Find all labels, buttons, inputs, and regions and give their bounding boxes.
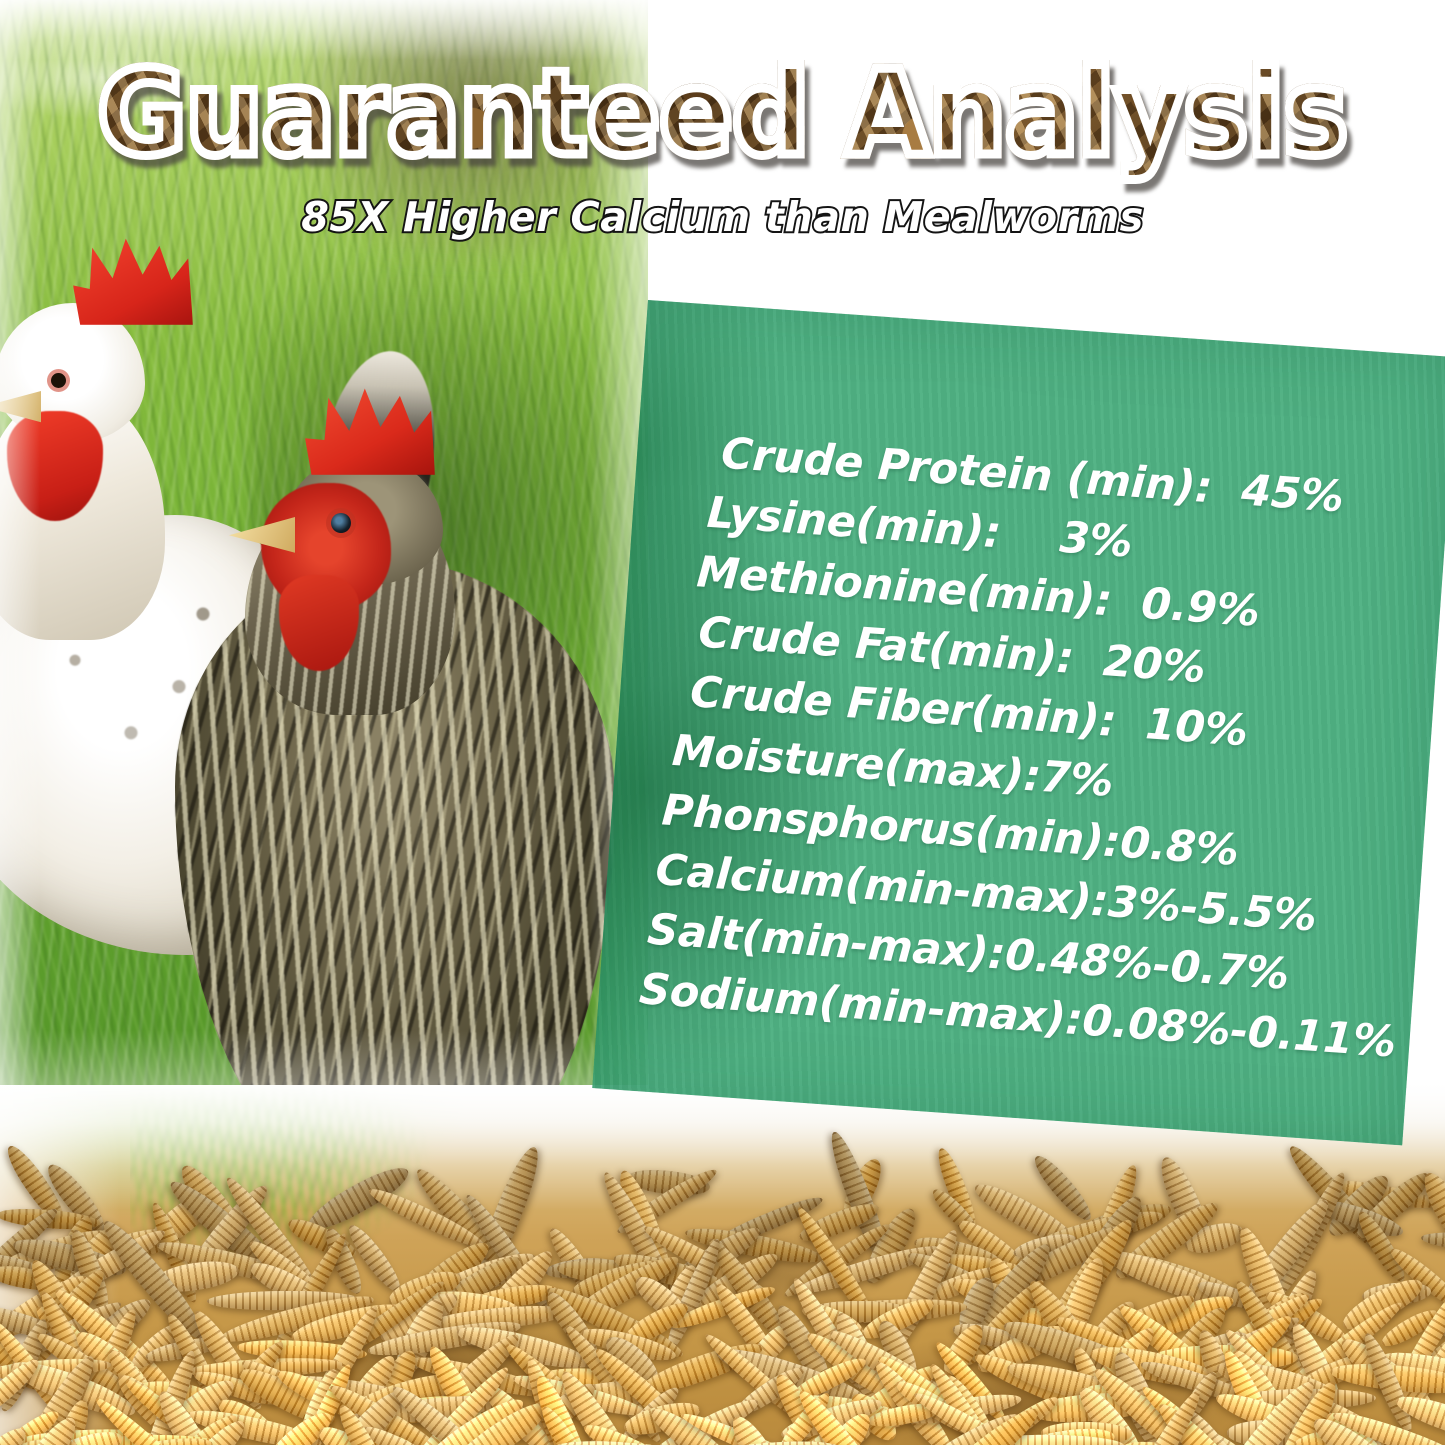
dried-black-soldier-fly-larvae-photo [0, 1085, 1445, 1445]
hen-eye [51, 373, 66, 388]
hen-eye [331, 513, 351, 533]
hen-comb-icon [305, 383, 435, 475]
hen-comb-icon [73, 235, 193, 325]
infographic-canvas: Crude Protein (min): 45%Lysine(min): 3%M… [0, 0, 1445, 1445]
nutrition-list: Crude Protein (min): 45%Lysine(min): 3%M… [592, 300, 1445, 1145]
photo-fade-top [0, 0, 648, 60]
guaranteed-analysis-panel: Crude Protein (min): 45%Lysine(min): 3%M… [592, 300, 1445, 1145]
photo-fade-left [0, 0, 40, 1180]
chickens-in-grass-photo [0, 0, 648, 1180]
